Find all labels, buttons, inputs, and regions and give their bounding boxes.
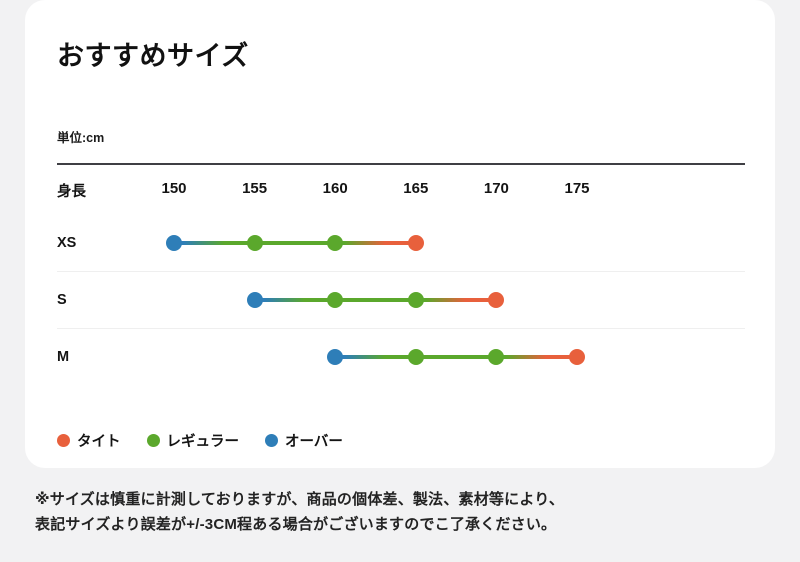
- chart-header-row: 身長 150155160165170175: [57, 180, 745, 214]
- footnote: ※サイズは慎重に計測しておりますが、商品の個体差、製法、素材等により、 表記サイ…: [35, 487, 564, 537]
- data-point-xs-165: [408, 235, 424, 251]
- data-point-xs-155: [247, 235, 263, 251]
- connector-segment: [416, 298, 497, 302]
- connector-segment: [255, 241, 336, 245]
- size-row-s: S: [57, 271, 745, 328]
- page-title: おすすめサイズ: [57, 34, 249, 73]
- axis-tick-155: 155: [242, 180, 267, 197]
- legend-dot-tight-icon: [57, 434, 70, 447]
- unit-label: 単位:cm: [57, 127, 104, 146]
- legend-dot-regular-icon: [147, 434, 160, 447]
- legend-label-regular: レギュラー: [167, 430, 240, 451]
- connector-segment: [416, 355, 497, 359]
- data-point-s-165: [408, 292, 424, 308]
- axis-tick-170: 170: [484, 180, 509, 197]
- axis-tick-175: 175: [564, 180, 589, 197]
- column-header-height: 身長: [57, 180, 86, 201]
- data-point-m-175: [569, 349, 585, 365]
- data-point-m-165: [408, 349, 424, 365]
- legend-label-over: オーバー: [285, 430, 343, 451]
- legend-item-over[interactable]: オーバー: [265, 430, 343, 451]
- legend-item-regular[interactable]: レギュラー: [147, 430, 240, 451]
- legend-dot-over-icon: [265, 434, 278, 447]
- data-point-s-155: [247, 292, 263, 308]
- connector-segment: [174, 241, 255, 245]
- size-row-m: M: [57, 328, 745, 385]
- connector-segment: [496, 355, 577, 359]
- data-point-m-160: [327, 349, 343, 365]
- connector-segment: [335, 298, 416, 302]
- footnote-line-1: ※サイズは慎重に計測しておりますが、商品の個体差、製法、素材等により、: [35, 487, 564, 512]
- row-label-s: S: [57, 292, 67, 308]
- axis-tick-150: 150: [161, 180, 186, 197]
- data-point-xs-150: [166, 235, 182, 251]
- size-recommendation-card: おすすめサイズ 単位:cm 身長 150155160165170175 XSSM…: [25, 0, 775, 468]
- legend-item-tight[interactable]: タイト: [57, 430, 121, 451]
- legend-label-tight: タイト: [77, 430, 121, 451]
- connector-segment: [335, 241, 416, 245]
- data-point-m-170: [488, 349, 504, 365]
- connector-segment: [335, 355, 416, 359]
- row-label-m: M: [57, 349, 69, 365]
- header-rule: [57, 163, 745, 165]
- chart-legend: タイトレギュラーオーバー: [57, 430, 343, 451]
- page-root: おすすめサイズ 単位:cm 身長 150155160165170175 XSSM…: [0, 0, 800, 562]
- row-label-xs: XS: [57, 235, 76, 251]
- data-point-s-160: [327, 292, 343, 308]
- connector-segment: [255, 298, 336, 302]
- size-row-xs: XS: [57, 214, 745, 271]
- axis-tick-160: 160: [323, 180, 348, 197]
- data-point-xs-160: [327, 235, 343, 251]
- data-point-s-170: [488, 292, 504, 308]
- axis-tick-165: 165: [403, 180, 428, 197]
- footnote-line-2: 表記サイズより誤差が+/-3CM程ある場合がございますのでこ了承ください。: [35, 512, 564, 537]
